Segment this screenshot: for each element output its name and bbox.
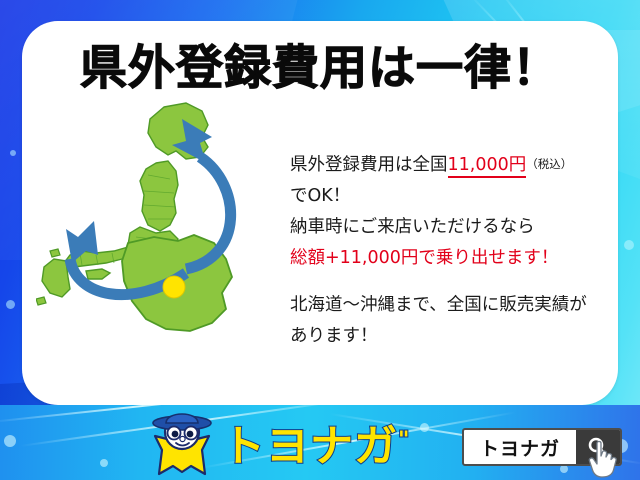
copy-line-6: あります！ <box>290 321 610 352</box>
price-value: 11,000円 <box>448 155 527 178</box>
footer-dot <box>420 423 429 432</box>
background-dot <box>10 150 16 156</box>
japan-map-illustration <box>36 101 274 391</box>
tax-note: （税込） <box>526 157 572 171</box>
copy-line-4: 総額+11,000円で乗り出せます！ <box>290 243 610 274</box>
map-location-dot <box>163 276 185 298</box>
copy-line-5: 北海道〜沖縄まで、全国に販売実績が <box>290 290 610 321</box>
brand-logo: トヨナガ" <box>222 426 410 469</box>
mascot-icon <box>145 406 219 478</box>
brand-logo-tick: " <box>398 428 410 453</box>
footer-dot <box>560 465 568 473</box>
copy-line-2: でOK！ <box>290 181 610 212</box>
search-box[interactable]: トヨナガ <box>462 428 622 466</box>
page-title: 県外登録費用は一律！ <box>22 45 618 92</box>
copy-line-3: 納車時にご来店いただけるなら <box>290 212 610 243</box>
footer-dot <box>100 459 108 467</box>
background-dot <box>624 240 634 250</box>
footer-bar: トヨナガ" トヨナガ <box>0 405 640 480</box>
content-card: 県外登録費用は一律！ <box>22 21 618 405</box>
copy-line-1-prefix: 県外登録費用は全国 <box>290 155 448 175</box>
copy-line-1: 県外登録費用は全国11,000円（税込） <box>290 149 610 181</box>
banner-image: 県外登録費用は一律！ <box>0 0 640 480</box>
search-button[interactable] <box>576 430 620 464</box>
background-dot <box>6 300 15 309</box>
copy-spacer <box>290 274 610 290</box>
brand-logo-text: トヨナガ <box>222 422 398 472</box>
search-input[interactable]: トヨナガ <box>464 430 576 464</box>
search-icon <box>586 435 610 459</box>
footer-dot <box>4 435 16 447</box>
body-copy: 県外登録費用は全国11,000円（税込） でOK！ 納車時にご来店いただけるなら… <box>290 149 610 352</box>
